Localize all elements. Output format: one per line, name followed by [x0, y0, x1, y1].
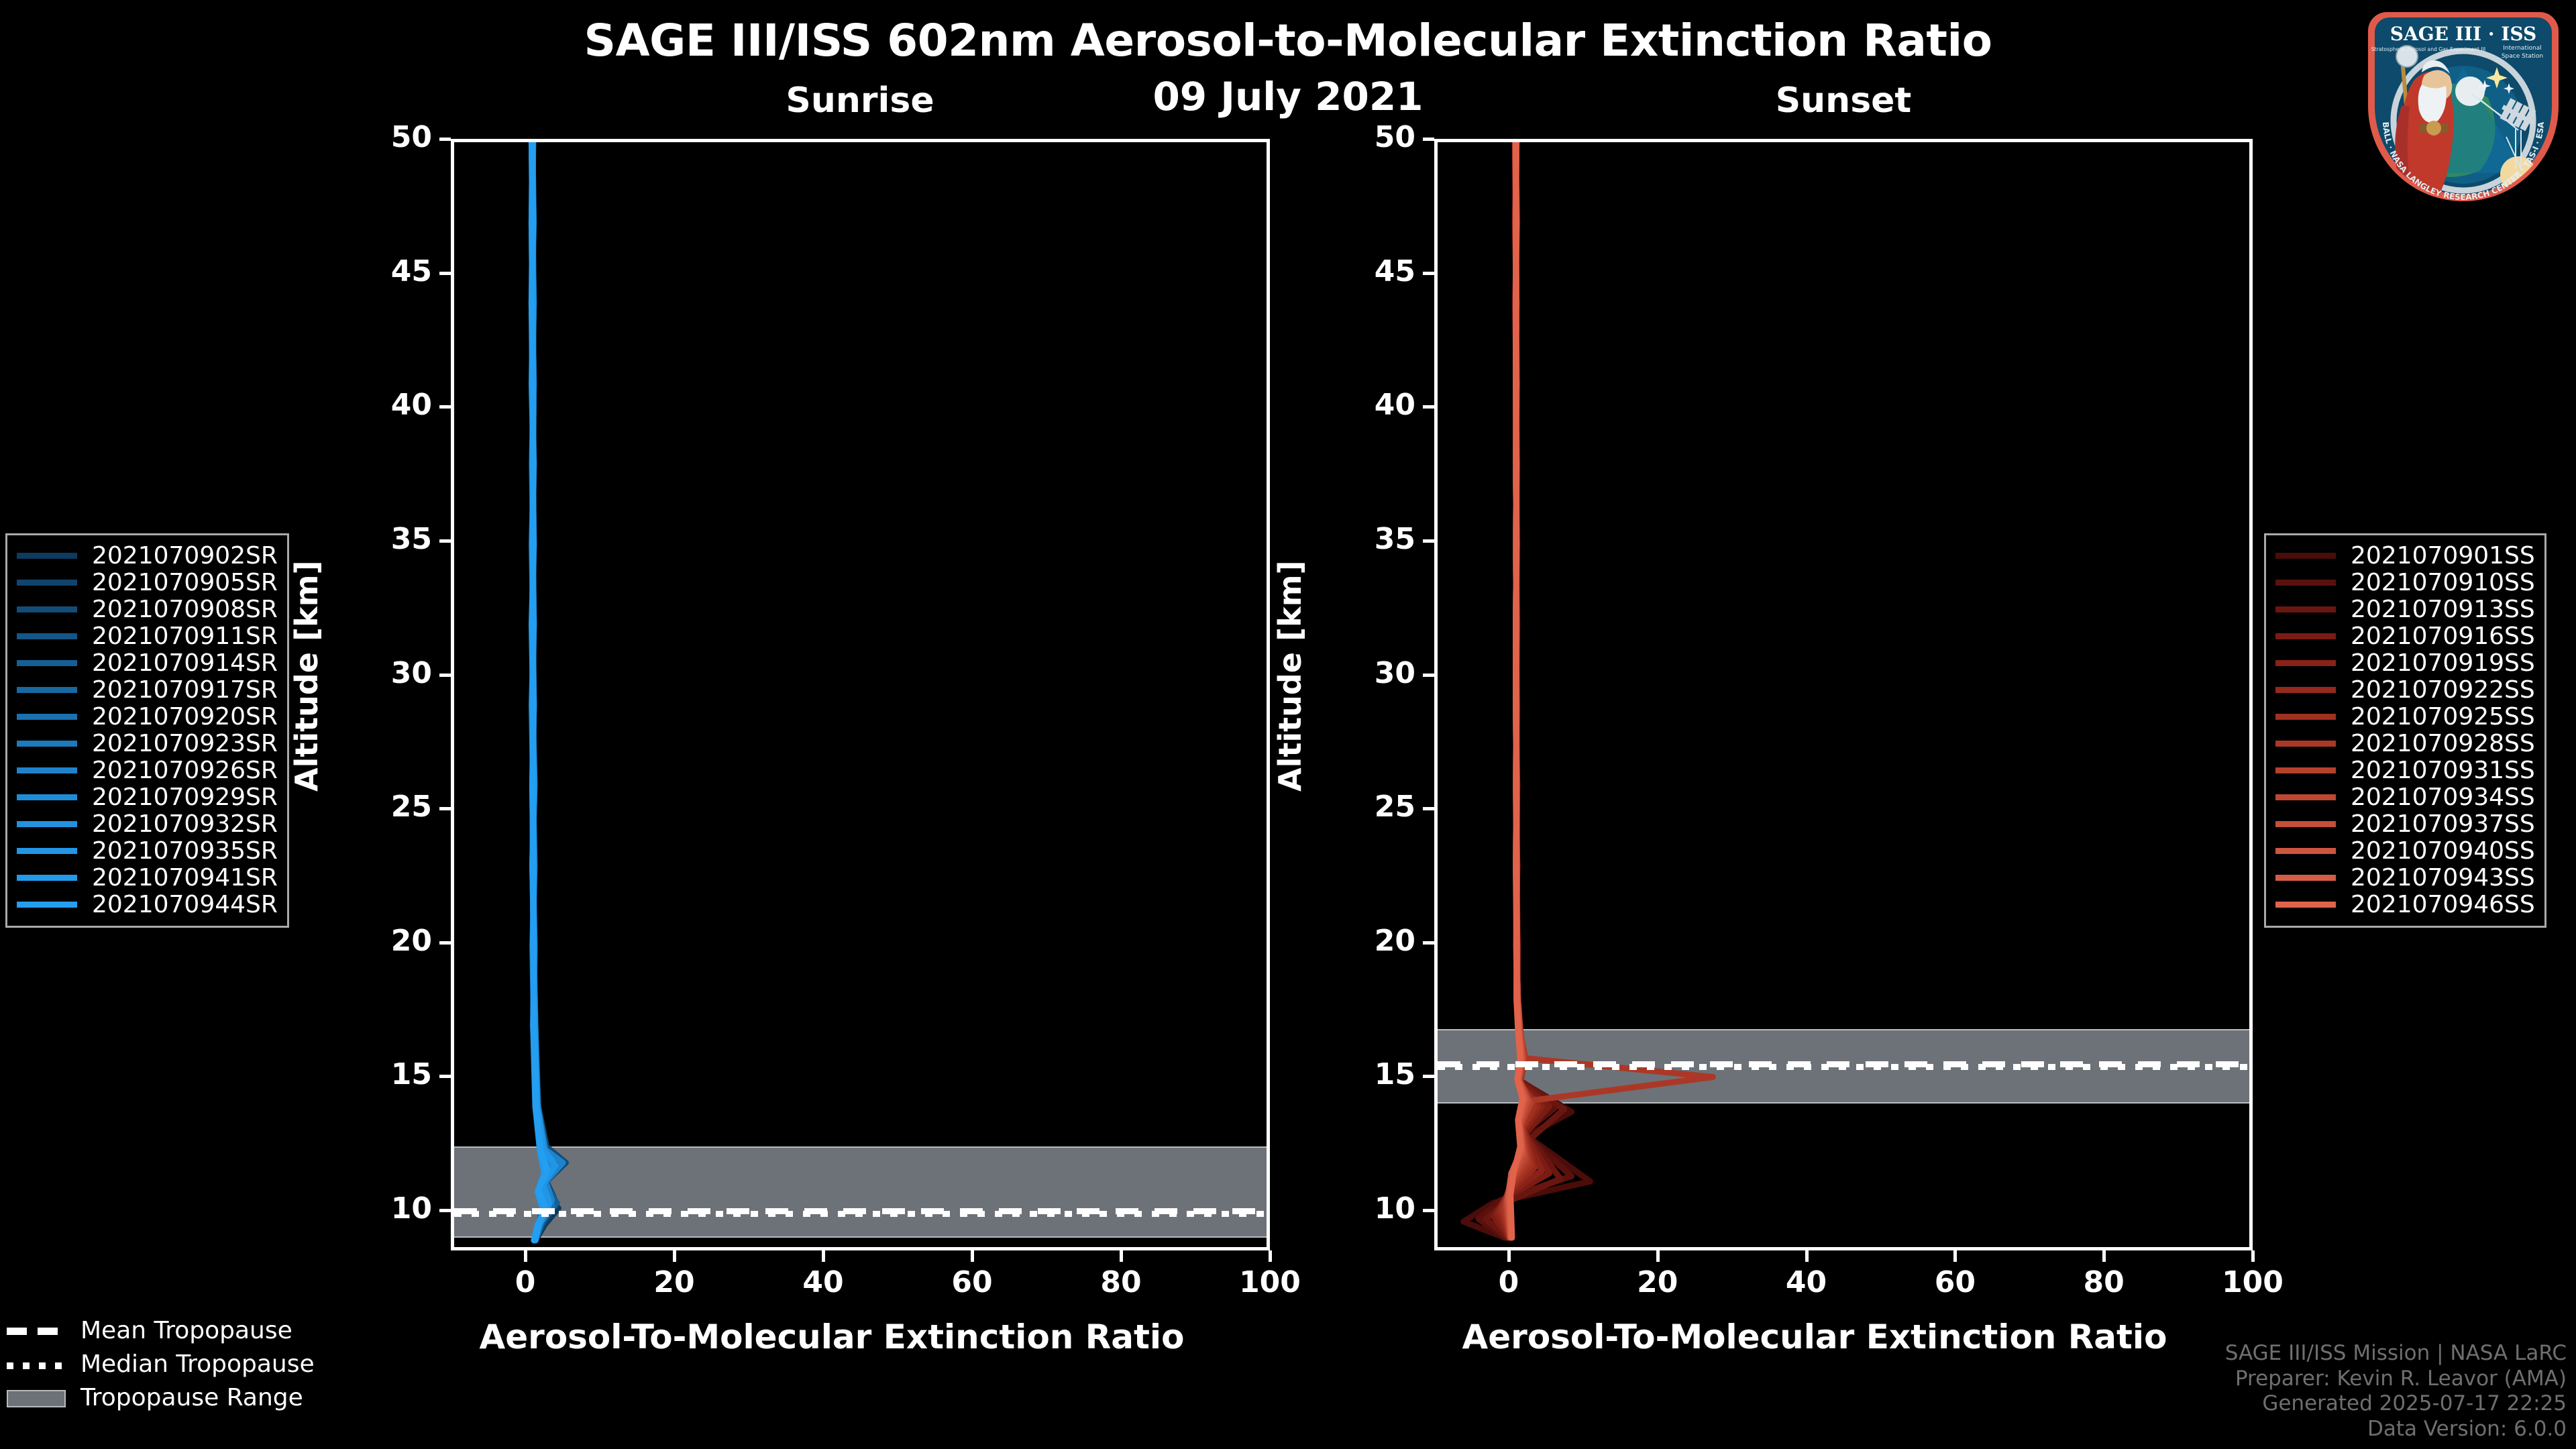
- sunrise-xtick-label-60: 60: [918, 1265, 1026, 1299]
- sunset-xtick-label-60: 60: [1901, 1265, 2008, 1299]
- sunrise-ytick-mark-30: [439, 674, 451, 677]
- legend-label-2021070911SR: 2021070911SR: [92, 623, 278, 650]
- sunset-ytick-label-50: 50: [1315, 120, 1415, 154]
- sunset-legend[interactable]: 2021070901SS2021070910SS2021070913SS2021…: [2264, 533, 2546, 928]
- logo-title-text: SAGE III · ISS: [2390, 23, 2536, 45]
- sunrise-ytick-label-25: 25: [331, 790, 432, 824]
- legend-swatch-2021070935SR: [17, 848, 77, 854]
- tropopause-legend: Mean Tropopause Median Tropopause Tropop…: [7, 1313, 315, 1414]
- legend-item-2021070946SS[interactable]: 2021070946SS: [2275, 891, 2535, 918]
- sunrise-ytick-label-30: 30: [331, 656, 432, 690]
- sunrise-xtick-mark-60: [971, 1250, 974, 1262]
- legend-item-2021070932SR[interactable]: 2021070932SR: [17, 810, 278, 837]
- filled-band-icon: [7, 1387, 66, 1407]
- sunrise-plot-area: [451, 139, 1270, 1250]
- legend-swatch-2021070929SR: [17, 794, 77, 800]
- logo-subtitle-right-2: Space Station: [2502, 53, 2543, 60]
- legend-label-2021070932SR: 2021070932SR: [92, 810, 278, 838]
- sunrise-ytick-label-35: 35: [331, 522, 432, 556]
- legend-item-2021070902SR[interactable]: 2021070902SR: [17, 542, 278, 569]
- legend-label-2021070929SR: 2021070929SR: [92, 784, 278, 811]
- credits-block: SAGE III/ISS Mission | NASA LaRC Prepare…: [2225, 1341, 2567, 1442]
- sunset-ytick-mark-30: [1423, 674, 1434, 677]
- page-title: SAGE III/ISS 602nm Aerosol-to-Molecular …: [0, 15, 2576, 66]
- sunset-xtick-label-20: 20: [1604, 1265, 1711, 1299]
- legend-item-2021070901SS[interactable]: 2021070901SS: [2275, 542, 2535, 569]
- sunset-ytick-label-40: 40: [1315, 388, 1415, 422]
- mean-tropopause-label: Mean Tropopause: [80, 1317, 292, 1344]
- legend-item-2021070926SR[interactable]: 2021070926SR: [17, 757, 278, 784]
- sunset-xtick-label-40: 40: [1753, 1265, 1860, 1299]
- sunrise-xtick-label-0: 0: [472, 1265, 579, 1299]
- legend-label-2021070908SR: 2021070908SR: [92, 596, 278, 623]
- sunrise-series-layer: [454, 142, 1270, 1250]
- legend-label-2021070917SR: 2021070917SR: [92, 676, 278, 704]
- sunset-ytick-mark-40: [1423, 405, 1434, 409]
- legend-swatch-2021070916SS: [2275, 633, 2336, 639]
- sunset-xtick-mark-40: [1805, 1250, 1809, 1262]
- sunset-xtick-label-100: 100: [2199, 1265, 2306, 1299]
- legend-label-2021070919SS: 2021070919SS: [2351, 649, 2535, 677]
- sunset-series-layer: [1438, 142, 2253, 1250]
- sunset-ytick-label-15: 15: [1315, 1057, 1415, 1091]
- series-line-2021070928SS: [1505, 142, 1713, 1238]
- legend-item-2021070928SS[interactable]: 2021070928SS: [2275, 730, 2535, 757]
- legend-item-2021070916SS[interactable]: 2021070916SS: [2275, 623, 2535, 649]
- sunset-ytick-mark-50: [1423, 138, 1434, 141]
- legend-label-2021070925SS: 2021070925SS: [2351, 703, 2535, 731]
- sunset-ytick-mark-45: [1423, 272, 1434, 275]
- legend-swatch-2021070905SR: [17, 580, 77, 586]
- sunset-xtick-label-80: 80: [2050, 1265, 2157, 1299]
- legend-item-2021070905SR[interactable]: 2021070905SR: [17, 569, 278, 596]
- legend-item-2021070931SS[interactable]: 2021070931SS: [2275, 757, 2535, 784]
- sunrise-ytick-mark-50: [439, 138, 451, 141]
- sunset-xtick-mark-60: [1953, 1250, 1957, 1262]
- sunrise-xtick-label-40: 40: [769, 1265, 877, 1299]
- credits-line-version: Data Version: 6.0.0: [2225, 1417, 2567, 1442]
- legend-swatch-2021070920SR: [17, 714, 77, 720]
- sunrise-xtick-label-80: 80: [1067, 1265, 1175, 1299]
- legend-item-2021070937SS[interactable]: 2021070937SS: [2275, 810, 2535, 837]
- legend-swatch-2021070928SS: [2275, 741, 2336, 747]
- logo-subtitle-left: Stratospheric Aerosol and Gas Experiment…: [2371, 46, 2485, 52]
- credits-line-preparer: Preparer: Kevin R. Leavor (AMA): [2225, 1366, 2567, 1392]
- sunrise-xtick-mark-0: [524, 1250, 527, 1262]
- legend-swatch-2021070922SS: [2275, 687, 2336, 693]
- legend-item-2021070922SS[interactable]: 2021070922SS: [2275, 676, 2535, 703]
- sunrise-xtick-mark-80: [1120, 1250, 1123, 1262]
- credits-line-mission: SAGE III/ISS Mission | NASA LaRC: [2225, 1341, 2567, 1366]
- legend-swatch-2021070917SR: [17, 687, 77, 693]
- legend-swatch-2021070919SS: [2275, 660, 2336, 666]
- legend-item-mean-tropopause: Mean Tropopause: [7, 1313, 315, 1347]
- legend-swatch-2021070908SR: [17, 606, 77, 612]
- legend-item-2021070914SR[interactable]: 2021070914SR: [17, 649, 278, 676]
- legend-label-2021070937SS: 2021070937SS: [2351, 810, 2535, 838]
- legend-swatch-2021070944SR: [17, 902, 77, 908]
- legend-label-2021070926SR: 2021070926SR: [92, 757, 278, 784]
- legend-item-median-tropopause: Median Tropopause: [7, 1347, 315, 1381]
- sunrise-y-axis-label: Altitude [km]: [288, 560, 325, 792]
- legend-label-2021070923SR: 2021070923SR: [92, 730, 278, 757]
- sage3-iss-mission-patch-logo: SAGE III · ISS Stratospheric Aerosol and…: [2363, 5, 2564, 207]
- legend-label-2021070943SS: 2021070943SS: [2351, 864, 2535, 892]
- legend-swatch-2021070934SS: [2275, 794, 2336, 800]
- sunset-xtick-mark-20: [1656, 1250, 1660, 1262]
- legend-label-2021070934SS: 2021070934SS: [2351, 784, 2535, 811]
- sunrise-ytick-mark-15: [439, 1075, 451, 1078]
- legend-swatch-2021070926SR: [17, 767, 77, 773]
- legend-label-2021070905SR: 2021070905SR: [92, 569, 278, 596]
- sunset-ytick-label-30: 30: [1315, 656, 1415, 690]
- sunrise-xtick-label-20: 20: [621, 1265, 728, 1299]
- sunrise-ytick-label-10: 10: [331, 1191, 432, 1226]
- sunset-ytick-label-10: 10: [1315, 1191, 1415, 1226]
- legend-label-2021070922SS: 2021070922SS: [2351, 676, 2535, 704]
- legend-label-2021070940SS: 2021070940SS: [2351, 837, 2535, 865]
- legend-swatch-2021070932SR: [17, 821, 77, 827]
- legend-item-2021070923SR[interactable]: 2021070923SR: [17, 730, 278, 757]
- legend-item-2021070934SS[interactable]: 2021070934SS: [2275, 784, 2535, 810]
- legend-label-2021070941SR: 2021070941SR: [92, 864, 278, 892]
- sunset-ytick-label-20: 20: [1315, 924, 1415, 958]
- legend-label-2021070920SR: 2021070920SR: [92, 703, 278, 731]
- legend-item-2021070944SR[interactable]: 2021070944SR: [17, 891, 278, 918]
- legend-item-2021070940SS[interactable]: 2021070940SS: [2275, 837, 2535, 864]
- sunrise-ytick-mark-45: [439, 272, 451, 275]
- sunset-ytick-mark-35: [1423, 539, 1434, 543]
- sunset-y-axis-label: Altitude [km]: [1272, 560, 1308, 792]
- sunrise-xtick-mark-100: [1269, 1250, 1272, 1262]
- legend-swatch-2021070914SR: [17, 660, 77, 666]
- legend-swatch-2021070911SR: [17, 633, 77, 639]
- sunset-ytick-label-45: 45: [1315, 254, 1415, 288]
- sunset-ytick-label-25: 25: [1315, 790, 1415, 824]
- logo-subtitle-right-1: International: [2503, 45, 2541, 52]
- sunrise-xtick-mark-40: [822, 1250, 825, 1262]
- legend-label-2021070944SR: 2021070944SR: [92, 891, 278, 918]
- sunset-xtick-mark-80: [2102, 1250, 2106, 1262]
- legend-label-2021070901SS: 2021070901SS: [2351, 542, 2535, 570]
- sunrise-ytick-mark-35: [439, 539, 451, 543]
- sunrise-ytick-mark-20: [439, 941, 451, 945]
- credits-line-generated: Generated 2025-07-17 22:25: [2225, 1391, 2567, 1417]
- legend-item-2021070920SR[interactable]: 2021070920SR: [17, 703, 278, 730]
- legend-label-2021070913SS: 2021070913SS: [2351, 596, 2535, 623]
- sunset-ytick-mark-20: [1423, 941, 1434, 945]
- legend-label-2021070928SS: 2021070928SS: [2351, 730, 2535, 757]
- legend-swatch-2021070940SS: [2275, 848, 2336, 854]
- sunrise-median-tropopause-line: [454, 1211, 1267, 1217]
- sunrise-legend[interactable]: 2021070902SR2021070905SR2021070908SR2021…: [5, 533, 289, 928]
- sunrise-ytick-label-45: 45: [331, 254, 432, 288]
- tropopause-range-label: Tropopause Range: [80, 1384, 303, 1411]
- legend-swatch-2021070913SS: [2275, 606, 2336, 612]
- dashed-line-icon: [7, 1320, 66, 1340]
- legend-label-2021070935SR: 2021070935SR: [92, 837, 278, 865]
- sunset-median-tropopause-line: [1438, 1064, 2249, 1070]
- legend-swatch-2021070937SS: [2275, 821, 2336, 827]
- left-panel-title: Sunrise: [659, 80, 1061, 121]
- sunrise-xtick-mark-20: [673, 1250, 676, 1262]
- sunrise-ytick-label-15: 15: [331, 1057, 432, 1091]
- legend-swatch-2021070902SR: [17, 553, 77, 559]
- dotted-line-icon: [7, 1354, 66, 1374]
- sunset-xtick-mark-0: [1507, 1250, 1511, 1262]
- logo-svg: SAGE III · ISS Stratospheric Aerosol and…: [2363, 5, 2564, 207]
- sunrise-x-axis-label: Aerosol-To-Molecular Extinction Ratio: [396, 1318, 1268, 1356]
- legend-item-2021070943SS[interactable]: 2021070943SS: [2275, 864, 2535, 891]
- sunrise-xtick-label-100: 100: [1216, 1265, 1324, 1299]
- legend-item-2021070941SR[interactable]: 2021070941SR: [17, 864, 278, 891]
- legend-swatch-2021070923SR: [17, 741, 77, 747]
- sunset-ytick-mark-15: [1423, 1075, 1434, 1078]
- sunrise-ytick-label-20: 20: [331, 924, 432, 958]
- legend-swatch-2021070931SS: [2275, 767, 2336, 773]
- legend-swatch-2021070910SS: [2275, 580, 2336, 586]
- sunset-ytick-mark-10: [1423, 1209, 1434, 1212]
- right-panel-title: Sunset: [1642, 80, 2045, 121]
- median-tropopause-label: Median Tropopause: [80, 1350, 315, 1378]
- legend-swatch-2021070925SS: [2275, 714, 2336, 720]
- legend-swatch-2021070946SS: [2275, 902, 2336, 908]
- sunrise-ytick-label-50: 50: [331, 120, 432, 154]
- legend-label-2021070931SS: 2021070931SS: [2351, 757, 2535, 784]
- legend-item-2021070919SS[interactable]: 2021070919SS: [2275, 649, 2535, 676]
- sunset-ytick-label-35: 35: [1315, 522, 1415, 556]
- legend-label-2021070902SR: 2021070902SR: [92, 542, 278, 570]
- legend-swatch-2021070943SS: [2275, 875, 2336, 881]
- legend-item-2021070917SR[interactable]: 2021070917SR: [17, 676, 278, 703]
- legend-item-2021070911SR[interactable]: 2021070911SR: [17, 623, 278, 649]
- sunset-xtick-mark-100: [2251, 1250, 2255, 1262]
- sunrise-ytick-mark-25: [439, 807, 451, 810]
- legend-item-2021070910SS[interactable]: 2021070910SS: [2275, 569, 2535, 596]
- legend-swatch-2021070901SS: [2275, 553, 2336, 559]
- legend-item-2021070908SR[interactable]: 2021070908SR: [17, 596, 278, 623]
- sunrise-ytick-mark-10: [439, 1209, 451, 1212]
- legend-label-2021070910SS: 2021070910SS: [2351, 569, 2535, 596]
- date-title: 09 July 2021: [0, 74, 2576, 119]
- legend-item-2021070913SS[interactable]: 2021070913SS: [2275, 596, 2535, 623]
- legend-item-2021070935SR[interactable]: 2021070935SR: [17, 837, 278, 864]
- legend-swatch-2021070941SR: [17, 875, 77, 881]
- sunrise-ytick-mark-40: [439, 405, 451, 409]
- sunset-plot-area: [1434, 139, 2253, 1250]
- sunset-ytick-mark-25: [1423, 807, 1434, 810]
- legend-item-2021070929SR[interactable]: 2021070929SR: [17, 784, 278, 810]
- legend-label-2021070946SS: 2021070946SS: [2351, 891, 2535, 918]
- legend-label-2021070916SS: 2021070916SS: [2351, 623, 2535, 650]
- legend-item-2021070925SS[interactable]: 2021070925SS: [2275, 703, 2535, 730]
- sunset-xtick-label-0: 0: [1455, 1265, 1562, 1299]
- legend-label-2021070914SR: 2021070914SR: [92, 649, 278, 677]
- sunrise-ytick-label-40: 40: [331, 388, 432, 422]
- series-line-2021070901SS: [1464, 142, 1591, 1238]
- legend-item-tropopause-range: Tropopause Range: [7, 1381, 315, 1414]
- sunset-x-axis-label: Aerosol-To-Molecular Extinction Ratio: [1379, 1318, 2251, 1356]
